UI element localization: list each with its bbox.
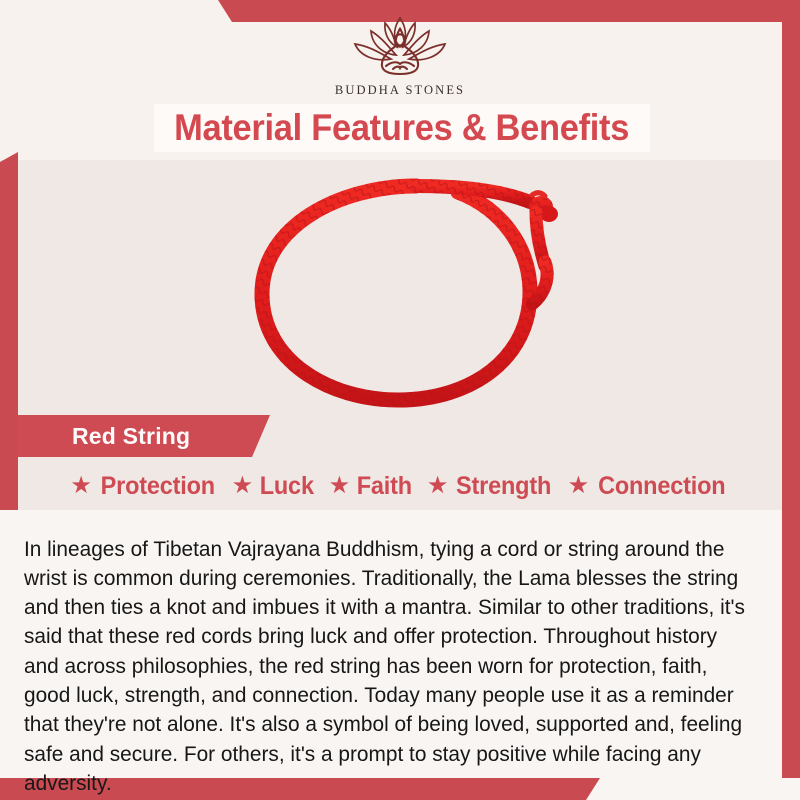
benefit-label: Strength [456, 472, 551, 501]
decorative-right-red-strip [782, 22, 800, 778]
benefits-list: ★ Protection ★ Luck ★ Faith ★ Strength ★… [18, 466, 782, 506]
brand-logo: BUDDHA STONES [0, 14, 800, 98]
material-features-infographic: BUDDHA STONES Material Features & Benefi… [0, 0, 800, 800]
description-paragraph: In lineages of Tibetan Vajrayana Buddhis… [24, 534, 750, 798]
benefit-label: Faith [357, 472, 412, 501]
star-icon: ★ [427, 474, 449, 498]
product-image [200, 162, 620, 422]
star-icon: ★ [232, 474, 254, 498]
benefit-label: Luck [260, 472, 314, 501]
benefit-item-connection: ★ Connection [568, 472, 730, 501]
benefit-item-protection: ★ Protection [70, 472, 218, 501]
benefit-item-faith: ★ Faith [329, 472, 414, 501]
star-icon: ★ [568, 474, 590, 498]
brand-name: BUDDHA STONES [0, 83, 800, 98]
page-title: Material Features & Benefits [175, 107, 630, 149]
star-icon: ★ [70, 474, 92, 498]
red-string-bracelet-illustration [200, 162, 620, 422]
headline-plate: Material Features & Benefits [154, 104, 650, 152]
benefit-label: Connection [598, 472, 725, 501]
benefit-item-luck: ★ Luck [232, 472, 316, 501]
material-name-label: Red String [72, 423, 190, 450]
lotus-meditation-figure-icon [341, 14, 459, 80]
benefit-item-strength: ★ Strength [427, 472, 555, 501]
material-name-banner: Red String [18, 415, 270, 457]
benefit-label: Protection [101, 472, 215, 501]
star-icon: ★ [329, 474, 351, 498]
decorative-left-red-strip [0, 152, 18, 510]
